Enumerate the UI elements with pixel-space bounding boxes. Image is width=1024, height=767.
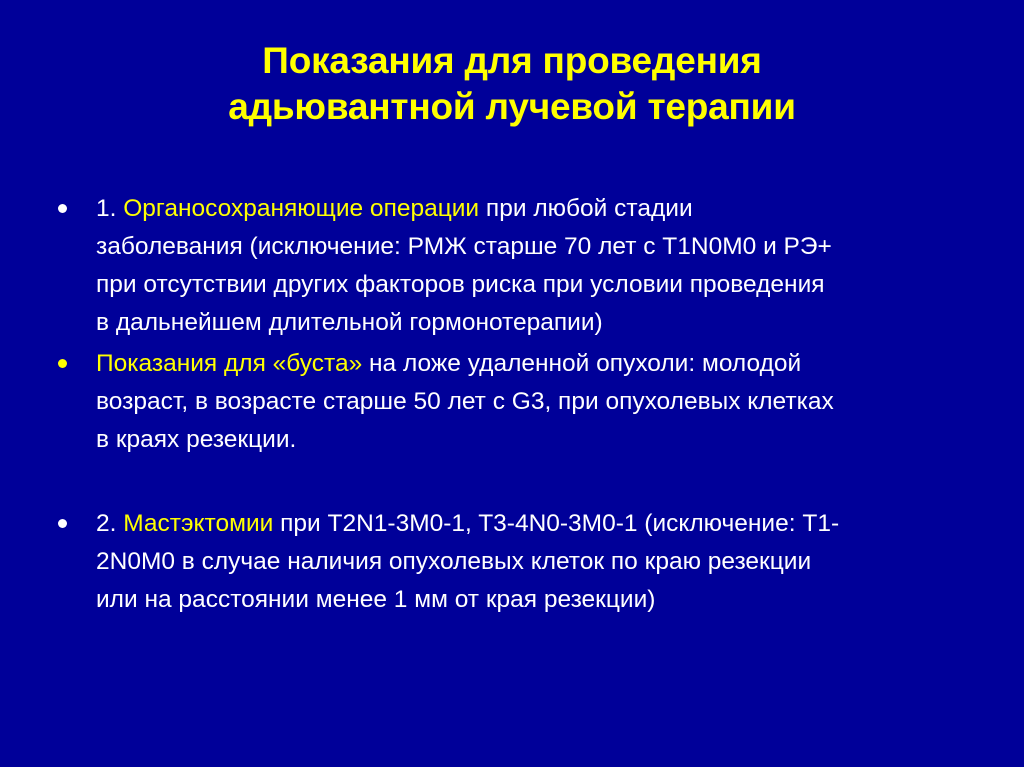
body-text: в дальнейшем длительной гормонотерапии)	[96, 309, 603, 336]
highlighted-text: Мастэктомии	[123, 510, 273, 537]
presentation-slide: Показания для проведения адьювантной луч…	[0, 0, 1024, 767]
bullet-line: в краях резекции.	[96, 421, 1008, 459]
body-text: при T2N1-3M0-1, T3-4N0-3M0-1 (исключение…	[273, 510, 839, 537]
bullet-line: заболевания (исключение: РМЖ старше 70 л…	[96, 228, 1008, 266]
body-text: при любой стадии	[479, 195, 693, 222]
bullet-line: 2. Мастэктомии при T2N1-3M0-1, T3-4N0-3M…	[96, 505, 1008, 543]
bullet-item: 2. Мастэктомии при T2N1-3M0-1, T3-4N0-3M…	[0, 505, 1024, 619]
body-text: 1.	[96, 195, 123, 222]
bullet-line: в дальнейшем длительной гормонотерапии)	[96, 304, 1008, 342]
title-line-1: Показания для проведения	[95, 38, 929, 84]
bullet-line: 1. Органосохраняющие операции при любой …	[96, 190, 1008, 228]
bullet-line: Показания для «буста» на ложе удаленной …	[96, 345, 1008, 383]
body-text: при отсутствии других факторов риска при…	[96, 271, 825, 298]
slide-body: 1. Органосохраняющие операции при любой …	[0, 190, 1024, 619]
bullet-dot-icon	[58, 519, 67, 528]
body-text: 2.	[96, 510, 123, 537]
title-line-2: адьювантной лучевой терапии	[95, 84, 929, 130]
body-text: заболевания (исключение: РМЖ старше 70 л…	[96, 233, 832, 260]
bullet-item: Показания для «буста» на ложе удаленной …	[0, 345, 1024, 459]
body-text: или на расстоянии менее 1 мм от края рез…	[96, 586, 655, 613]
slide-title: Показания для проведения адьювантной луч…	[95, 38, 929, 130]
body-text: на ложе удаленной опухоли: молодой	[362, 350, 801, 377]
bullet-dot-icon	[58, 359, 67, 368]
bullet-line: возраст, в возрасте старше 50 лет с G3, …	[96, 383, 1008, 421]
bullet-list: 1. Органосохраняющие операции при любой …	[0, 190, 1024, 619]
bullet-line: или на расстоянии менее 1 мм от края рез…	[96, 581, 1008, 619]
body-text: в краях резекции.	[96, 426, 296, 453]
bullet-item: 1. Органосохраняющие операции при любой …	[0, 190, 1024, 342]
highlighted-text: Органосохраняющие операции	[123, 195, 479, 222]
body-text: 2N0M0 в случае наличия опухолевых клеток…	[96, 548, 811, 575]
bullet-group-spacer	[0, 459, 1024, 505]
bullet-line: 2N0M0 в случае наличия опухолевых клеток…	[96, 543, 1008, 581]
body-text: возраст, в возрасте старше 50 лет с G3, …	[96, 388, 834, 415]
bullet-dot-icon	[58, 204, 67, 213]
bullet-line: при отсутствии других факторов риска при…	[96, 266, 1008, 304]
highlighted-text: Показания для «буста»	[96, 350, 362, 377]
